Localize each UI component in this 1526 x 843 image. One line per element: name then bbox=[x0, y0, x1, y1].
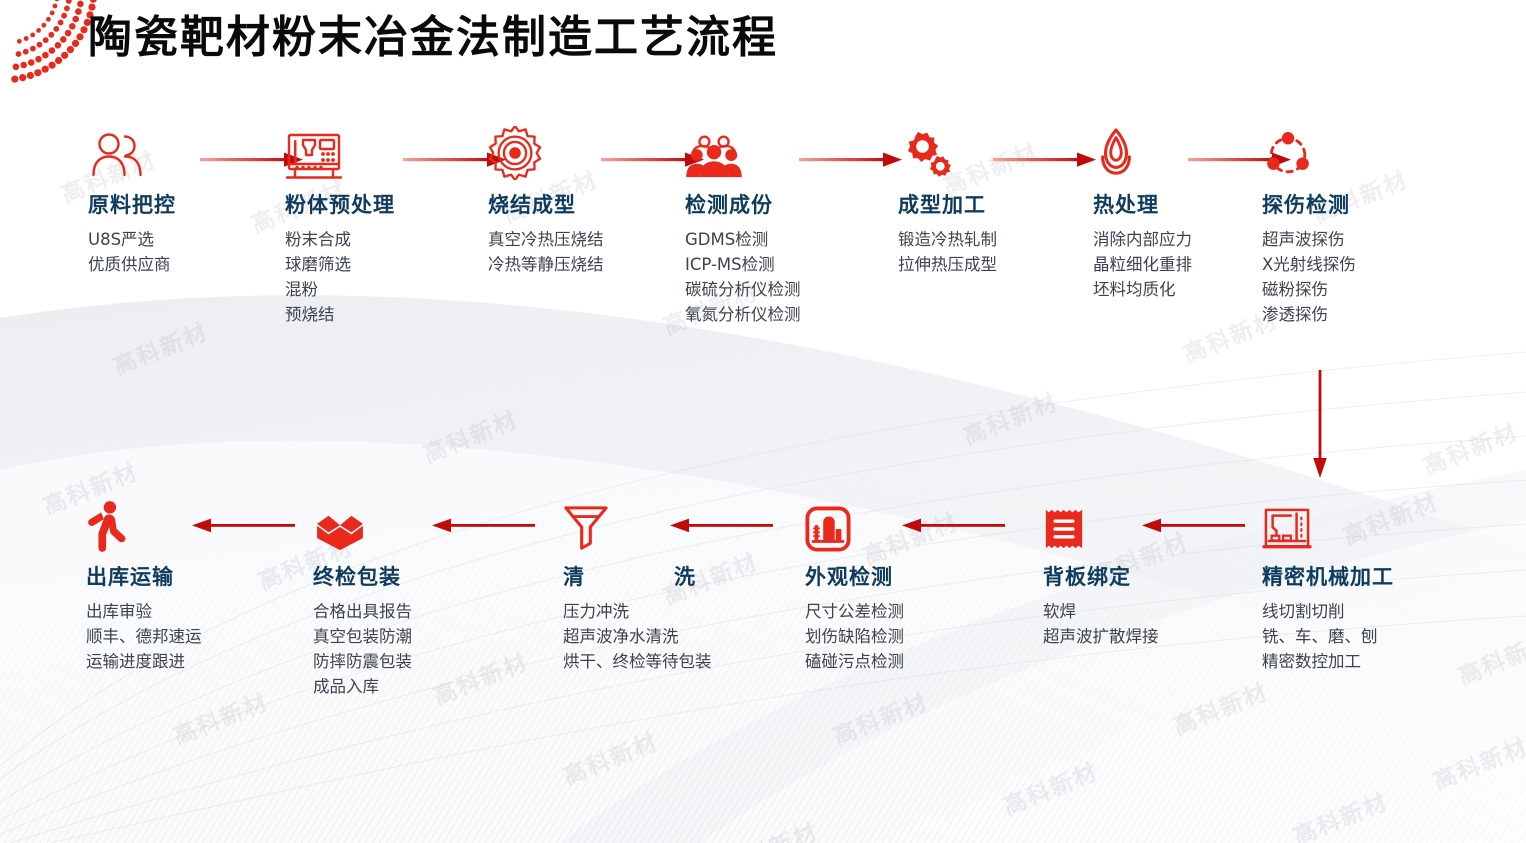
step-detail-line: 拉伸热压成型 bbox=[898, 252, 1098, 277]
step-detail-line: 顺丰、德邦速运 bbox=[86, 624, 286, 649]
step-title: 烧结成型 bbox=[488, 192, 688, 218]
step-backplate-bonding[interactable]: 背板绑定 软焊超声波扩散焊接 bbox=[1043, 500, 1243, 649]
step-flaw-detection[interactable]: 探伤检测 超声波探伤X光射线探伤磁粉探伤渗透探伤 bbox=[1262, 128, 1462, 327]
step-title: 粉体预处理 bbox=[285, 192, 485, 218]
step-detail-line: 防摔防震包装 bbox=[313, 649, 513, 674]
people-group-icon bbox=[685, 128, 885, 180]
step-detail-line: 出库审验 bbox=[86, 599, 286, 624]
step-title: 成型加工 bbox=[898, 192, 1098, 218]
step-detail-line: 球磨筛选 bbox=[285, 252, 485, 277]
step-detail-list: 锻造冷热轧制拉伸热压成型 bbox=[898, 227, 1098, 277]
step-detail-line: 成品入库 bbox=[313, 674, 513, 699]
ticket-icon bbox=[1043, 500, 1243, 552]
arrow-down-connector bbox=[1306, 370, 1334, 480]
step-detail-list: 尺寸公差检测划伤缺陷检测磕碰污点检测 bbox=[805, 599, 1005, 674]
step-detail-line: 划伤缺陷检测 bbox=[805, 624, 1005, 649]
step-detail-list: GDMS检测ICP-MS检测碳硫分析仪检测氧氮分析仪检测 bbox=[685, 227, 885, 327]
gear-concentric-icon bbox=[488, 128, 688, 180]
step-forming-processing[interactable]: 成型加工 锻造冷热轧制拉伸热压成型 bbox=[898, 128, 1098, 277]
factory-frame-icon bbox=[805, 500, 1005, 552]
step-title: 背板绑定 bbox=[1043, 564, 1243, 590]
step-detail-line: 超声波探伤 bbox=[1262, 227, 1462, 252]
step-detail-list: 线切割切削铣、车、磨、刨精密数控加工 bbox=[1262, 599, 1462, 674]
step-detail-line: 冷热等静压烧结 bbox=[488, 252, 688, 277]
step-detail-line: 渗透探伤 bbox=[1262, 302, 1462, 327]
step-detail-line: 软焊 bbox=[1043, 599, 1243, 624]
step-detail-line: U8S严选 bbox=[88, 227, 288, 252]
step-detail-line: 混粉 bbox=[285, 277, 485, 302]
two-people-icon bbox=[88, 128, 288, 180]
funnel-icon bbox=[563, 500, 763, 552]
step-detail-line: 锻造冷热轧制 bbox=[898, 227, 1098, 252]
step-detail-list: 粉末合成球磨筛选混粉预烧结 bbox=[285, 227, 485, 327]
step-title: 原料把控 bbox=[88, 192, 288, 218]
step-detail-list: U8S严选优质供应商 bbox=[88, 227, 288, 277]
walking-person-icon bbox=[86, 500, 286, 552]
step-detail-line: 烘干、终检等待包装 bbox=[563, 649, 713, 674]
step-detail-list: 压力冲洗超声波净水清洗烘干、终检等待包装 bbox=[563, 599, 763, 674]
page-title: 陶瓷靶材粉末冶金法制造工艺流程 bbox=[88, 8, 778, 68]
step-outbound-transport[interactable]: 出库运输 出库审验顺丰、德邦速运运输进度跟进 bbox=[86, 500, 286, 674]
step-sintering-forming[interactable]: 烧结成型 真空冷热压烧结冷热等静压烧结 bbox=[488, 128, 688, 277]
step-detail-line: 真空包装防潮 bbox=[313, 624, 513, 649]
step-powder-pretreatment[interactable]: 粉体预处理 粉末合成球磨筛选混粉预烧结 bbox=[285, 128, 485, 327]
step-detail-list: 超声波探伤X光射线探伤磁粉探伤渗透探伤 bbox=[1262, 227, 1462, 327]
step-cleaning[interactable]: 清 洗 压力冲洗超声波净水清洗烘干、终检等待包装 bbox=[563, 500, 763, 674]
step-detail-list: 合格出具报告真空包装防潮防摔防震包装成品入库 bbox=[313, 599, 513, 699]
step-title: 检测成份 bbox=[685, 192, 885, 218]
step-detail-line: X光射线探伤 bbox=[1262, 252, 1462, 277]
step-appearance-inspection[interactable]: 外观检测 尺寸公差检测划伤缺陷检测磕碰污点检测 bbox=[805, 500, 1005, 674]
step-detail-line: 磕碰污点检测 bbox=[805, 649, 1005, 674]
step-detail-line: 氧氮分析仪检测 bbox=[685, 302, 885, 327]
step-detail-line: 合格出具报告 bbox=[313, 599, 513, 624]
step-detail-line: 超声波扩散焊接 bbox=[1043, 624, 1243, 649]
step-detail-line: 磁粉探伤 bbox=[1262, 277, 1462, 302]
step-detail-line: 运输进度跟进 bbox=[86, 649, 286, 674]
step-detail-line: 压力冲洗 bbox=[563, 599, 763, 624]
step-detail-list: 软焊超声波扩散焊接 bbox=[1043, 599, 1243, 649]
machine-icon bbox=[285, 128, 485, 180]
step-detail-line: 预烧结 bbox=[285, 302, 485, 327]
step-detail-line: GDMS检测 bbox=[685, 227, 885, 252]
step-detail-line: 粉末合成 bbox=[285, 227, 485, 252]
step-detail-line: 碳硫分析仪检测 bbox=[685, 277, 885, 302]
step-detail-line: 铣、车、磨、刨 bbox=[1262, 624, 1462, 649]
step-title: 精密机械加工 bbox=[1262, 564, 1462, 590]
open-box-icon bbox=[313, 500, 513, 552]
cnc-machine-icon bbox=[1262, 500, 1462, 552]
process-flow: 原料把控 U8S严选优质供应商 粉体预处理 粉末合成球磨筛选混粉预烧结 烧结成型… bbox=[0, 0, 1526, 843]
step-raw-material-control[interactable]: 原料把控 U8S严选优质供应商 bbox=[88, 128, 288, 277]
step-title: 终检包装 bbox=[313, 564, 513, 590]
step-detail-line: 尺寸公差检测 bbox=[805, 599, 1005, 624]
step-detail-line: 超声波净水清洗 bbox=[563, 624, 763, 649]
step-final-inspection-packaging[interactable]: 终检包装 合格出具报告真空包装防潮防摔防震包装成品入库 bbox=[313, 500, 513, 699]
step-detail-line: ICP-MS检测 bbox=[685, 252, 885, 277]
step-detail-list: 真空冷热压烧结冷热等静压烧结 bbox=[488, 227, 688, 277]
step-detail-line: 精密数控加工 bbox=[1262, 649, 1462, 674]
two-gears-icon bbox=[898, 128, 1098, 180]
step-title: 清 洗 bbox=[563, 564, 763, 590]
step-title: 探伤检测 bbox=[1262, 192, 1462, 218]
step-precision-machining[interactable]: 精密机械加工 线切割切削铣、车、磨、刨精密数控加工 bbox=[1262, 500, 1462, 674]
step-title: 出库运输 bbox=[86, 564, 286, 590]
step-detail-line: 优质供应商 bbox=[88, 252, 288, 277]
step-title: 外观检测 bbox=[805, 564, 1005, 590]
step-detail-list: 出库审验顺丰、德邦速运运输进度跟进 bbox=[86, 599, 286, 674]
step-composition-inspection[interactable]: 检测成份 GDMS检测ICP-MS检测碳硫分析仪检测氧氮分析仪检测 bbox=[685, 128, 885, 327]
step-detail-line: 真空冷热压烧结 bbox=[488, 227, 688, 252]
step-detail-line: 线切割切削 bbox=[1262, 599, 1462, 624]
three-node-cycle-icon bbox=[1262, 128, 1462, 180]
